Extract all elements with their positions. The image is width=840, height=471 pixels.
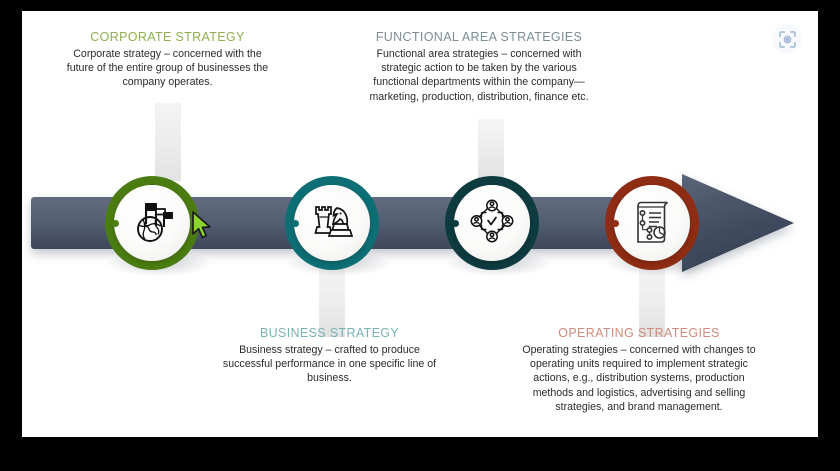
mouse-cursor [191,211,213,246]
connector-corporate [155,103,181,181]
node-dot [112,220,119,227]
block-operating: OPERATING STRATEGIES Operating strategie… [514,326,764,414]
node-business[interactable] [285,176,379,270]
chess-pieces-icon [307,196,357,251]
connector-functional [478,119,504,181]
globe-with-flags-icon [127,196,177,251]
node-functional[interactable] [445,176,539,270]
block-body: Functional area strategies – concerned w… [359,47,599,104]
team-cycle-check-icon [466,195,518,252]
node-dot [612,220,619,227]
node-disc [454,185,530,261]
block-heading: OPERATING STRATEGIES [514,326,764,340]
node-corporate[interactable] [105,176,199,270]
document-flowchart-chart-icon [628,196,676,251]
screenshot-root: CORPORATE STRATEGY Corporate strategy – … [0,0,840,471]
block-heading: CORPORATE STRATEGY [60,30,275,44]
block-body: Corporate strategy – concerned with the … [60,47,275,90]
node-disc [294,185,370,261]
block-heading: FUNCTIONAL AREA STRATEGIES [359,30,599,44]
block-functional: FUNCTIONAL AREA STRATEGIES Functional ar… [359,30,599,104]
block-heading: BUSINESS STRATEGY [222,326,437,340]
node-dot [452,220,459,227]
node-dot [292,220,299,227]
node-disc [614,185,690,261]
block-body: Operating strategies – concerned with ch… [514,343,764,414]
node-disc [114,185,190,261]
focus-target-icon[interactable] [772,24,802,54]
block-business: BUSINESS STRATEGY Business strategy – cr… [222,326,437,386]
node-operating[interactable] [605,176,699,270]
block-corporate: CORPORATE STRATEGY Corporate strategy – … [60,30,275,90]
block-body: Business strategy – crafted to produce s… [222,343,437,386]
slide-canvas: CORPORATE STRATEGY Corporate strategy – … [22,11,818,437]
